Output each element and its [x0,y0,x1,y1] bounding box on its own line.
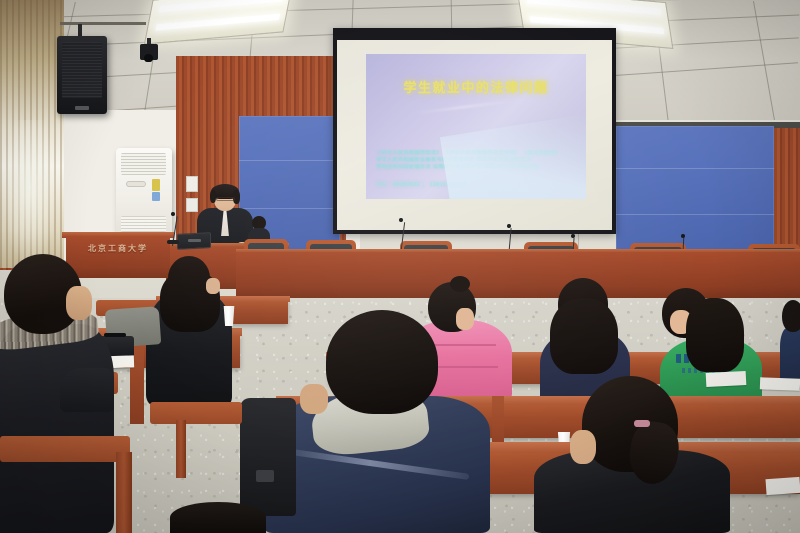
presenter-glasses [216,197,235,201]
paper-sheet-row3 [760,377,800,390]
slide-title: 学生就业中的法律问题 [366,77,586,96]
presenter-hair-side-left [210,190,216,203]
desk-leg-left-2 [116,452,132,533]
chair-leg-foreground-left [176,420,186,478]
chair-back-foreground-left[interactable] [150,402,242,424]
audience-person-far-right-edge [780,300,800,390]
audience-person-fur-hood-coat [0,250,114,533]
green-hoodie-hair [686,298,744,372]
fur-hood-sleeve [60,368,114,412]
blue-acoustic-panel-right [616,126,774,258]
presentation-slide: 学生就业中的法律问题 《中华人民共和国劳动法》 《中华人民共和国劳动合同法》 《… [366,54,586,199]
ceiling-camera-icon [140,44,158,60]
backpack-buckle [256,470,274,482]
presenter-laptop[interactable] [177,233,213,251]
curtain-light-glow [2,120,58,270]
speaker-mount-rail [60,22,146,25]
paper-sheet-front-right [765,477,800,495]
air-conditioner-unit [116,148,172,244]
student-backpack [240,398,296,516]
hair-tie [634,420,650,427]
fur-hood-coat-body [0,324,114,533]
audience-person-navy-hood-student [264,310,490,533]
audience-person-bottom-partial [170,502,266,533]
navy-hood-student-head [326,310,438,414]
navy-top-hair [550,298,618,374]
audience-person-black-ponytail [534,376,730,533]
wall-speaker-icon [57,36,107,114]
bench-back-left-3 [0,436,130,462]
lecture-hall-photo: 学生就业中的法律问题 《中华人民共和国劳动法》 《中华人民共和国劳动合同法》 《… [0,0,800,533]
